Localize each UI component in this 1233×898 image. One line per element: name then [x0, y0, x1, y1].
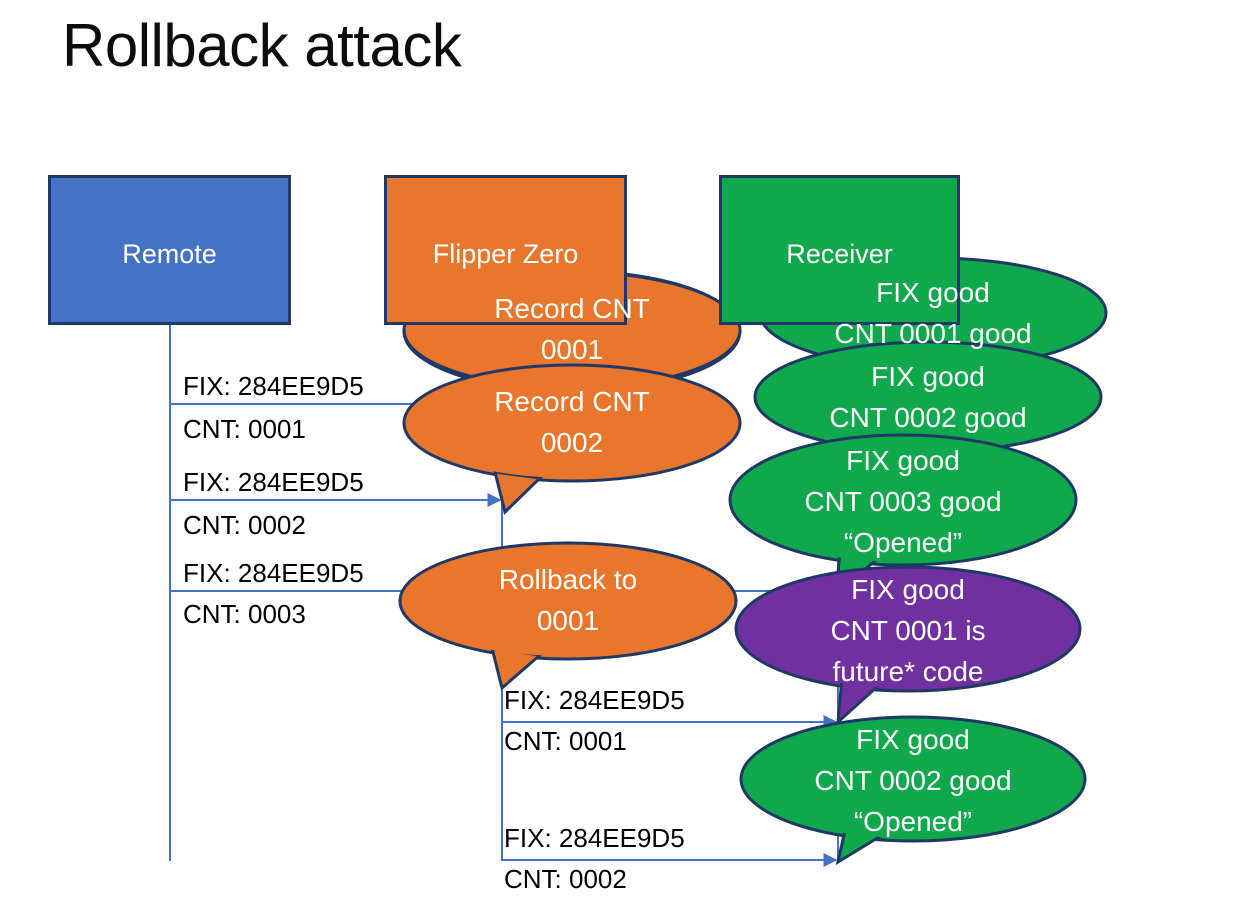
actor-box-remote[interactable]: Remote	[48, 175, 291, 325]
actor-box-flipper[interactable]: Flipper Zero	[384, 175, 627, 325]
actor-label-flipper: Flipper Zero	[387, 238, 624, 270]
actor-label-receiver: Receiver	[722, 238, 957, 270]
message-label-m1-fix: FIX: 284EE9D5	[183, 371, 364, 401]
message-label-m5-cnt: CNT: 0002	[504, 864, 627, 894]
message-label-m3-cnt: CNT: 0003	[183, 599, 306, 629]
message-label-m1-cnt: CNT: 0001	[183, 414, 306, 444]
message-label-m3-fix: FIX: 284EE9D5	[183, 558, 364, 588]
callout-fc2	[404, 365, 740, 512]
message-label-m2-cnt: CNT: 0002	[183, 510, 306, 540]
actor-label-remote: Remote	[51, 238, 288, 270]
message-label-m4-fix: FIX: 284EE9D5	[504, 685, 685, 715]
diagram-artwork	[0, 0, 1233, 898]
callout-rc4	[736, 567, 1080, 722]
message-label-m5-fix: FIX: 284EE9D5	[504, 823, 685, 853]
message-label-m4-cnt: CNT: 0001	[504, 726, 627, 756]
callout-rc5	[741, 717, 1085, 862]
callout-fc3	[400, 543, 736, 688]
message-label-m2-fix: FIX: 284EE9D5	[183, 467, 364, 497]
actor-box-receiver[interactable]: Receiver	[719, 175, 960, 325]
slide-canvas: Rollback attack	[0, 0, 1233, 898]
